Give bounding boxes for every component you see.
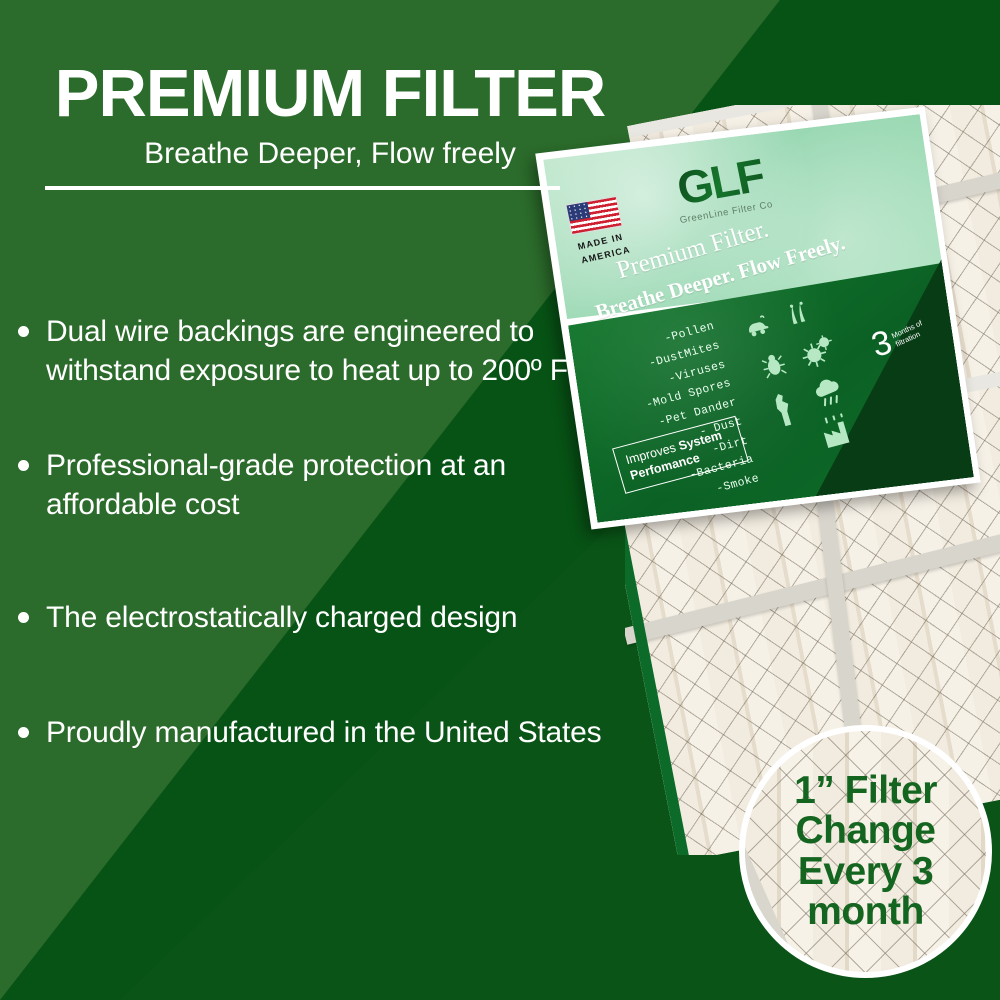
pet-dander-dog-icon: [767, 390, 800, 429]
list-item: Proudly manufactured in the United State…: [18, 713, 748, 752]
bullet-text: The electrostatically charged design: [46, 598, 517, 637]
usa-flag-stars: [567, 202, 591, 221]
list-item: Dual wire backings are engineered to wit…: [18, 312, 748, 390]
mold-cloud-icon: [811, 374, 848, 409]
page-subtitle: Breathe Deeper, Flow freely: [0, 137, 660, 171]
header-divider: [45, 186, 560, 190]
usa-flag-canton: [567, 202, 591, 221]
bullet-text: Proudly manufactured in the United State…: [46, 713, 601, 752]
list-item: Professional-grade protection at an affo…: [18, 446, 748, 524]
bullet-dot-icon: [18, 727, 29, 738]
list-item: The electrostatically charged design: [18, 598, 748, 637]
badge-text: 1” Filter Change Every 3 month: [794, 771, 937, 932]
dust-mite-icon: [760, 351, 788, 380]
bullet-dot-icon: [18, 612, 29, 623]
bullet-dot-icon: [18, 460, 29, 471]
page-title: PREMIUM FILTER: [0, 60, 660, 127]
feature-bullet-list: Dual wire backings are engineered to wit…: [18, 312, 748, 800]
badge-line4: month: [794, 892, 937, 932]
pollen-grass-icon: [784, 300, 811, 325]
virus-icon: [797, 333, 838, 371]
badge-line2: Change: [794, 811, 937, 851]
filter-change-badge: 1” Filter Change Every 3 month: [739, 725, 992, 978]
bullet-text: Dual wire backings are engineered to wit…: [46, 312, 606, 390]
badge-line3: Every 3: [794, 852, 937, 892]
header: PREMIUM FILTER Breathe Deeper, Flow free…: [0, 60, 660, 171]
badge-line1: 1” Filter: [794, 771, 937, 811]
bullet-text: Professional-grade protection at an affo…: [46, 446, 626, 524]
bullet-dot-icon: [18, 326, 29, 337]
